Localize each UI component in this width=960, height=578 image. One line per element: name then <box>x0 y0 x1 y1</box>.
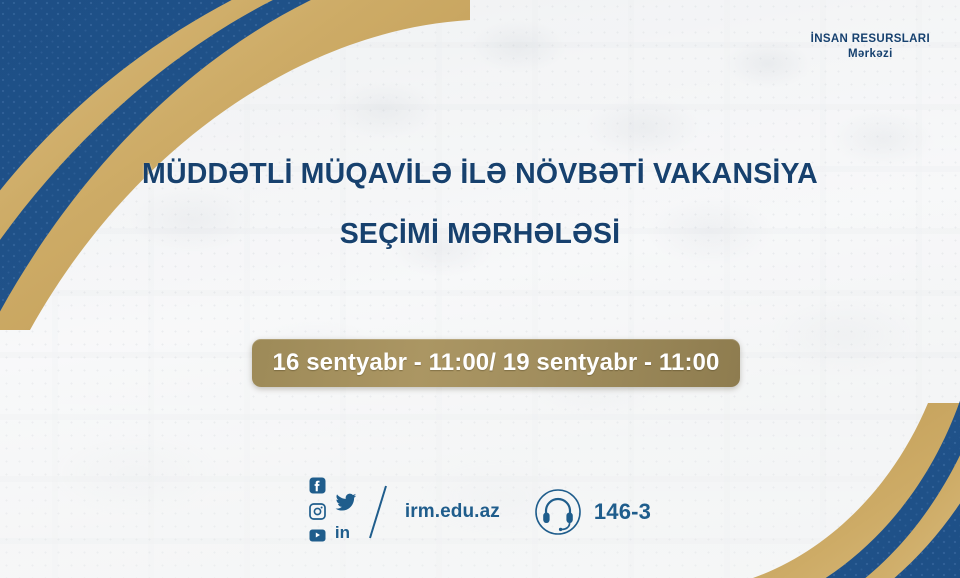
social-column-secondary: in <box>335 484 357 541</box>
website-url[interactable]: irm.edu.az <box>405 501 500 523</box>
date-banner: 16 sentyabr - 11:00/ 19 sentyabr - 11:00 <box>252 339 740 387</box>
divider-slash <box>366 484 392 540</box>
instagram-icon[interactable] <box>309 503 326 525</box>
headline-line-2: SEÇİMİ MƏRHƏLƏSİ <box>0 220 960 249</box>
facebook-icon[interactable] <box>309 477 326 499</box>
social-links: in <box>309 477 357 547</box>
headline-line-1: MÜDDƏTLİ MÜQAVİLƏ İLƏ NÖVBƏTİ VAKANSİYA <box>0 160 960 189</box>
date-banner-text: 16 sentyabr - 11:00/ 19 sentyabr - 11:00 <box>273 349 720 377</box>
linkedin-icon[interactable]: in <box>335 524 357 541</box>
footer: in irm.edu.az 146-3 <box>0 481 960 543</box>
organization-logo: İNSAN RESURSLARI Mərkəzi <box>811 32 930 61</box>
logo-line-2: Mərkəzi <box>811 47 930 62</box>
headset-icon <box>534 488 582 536</box>
headline: MÜDDƏTLİ MÜQAVİLƏ İLƏ NÖVBƏTİ VAKANSİYA … <box>0 160 960 248</box>
poster-canvas: İNSAN RESURSLARI Mərkəzi MÜDDƏTLİ MÜQAVİ… <box>0 0 960 578</box>
hotline-number: 146-3 <box>594 499 651 525</box>
social-column-primary <box>309 477 326 547</box>
twitter-icon[interactable] <box>335 493 357 517</box>
youtube-icon[interactable] <box>309 529 326 547</box>
hotline-block: 146-3 <box>534 488 651 536</box>
logo-line-1: İNSAN RESURSLARI <box>811 32 930 47</box>
